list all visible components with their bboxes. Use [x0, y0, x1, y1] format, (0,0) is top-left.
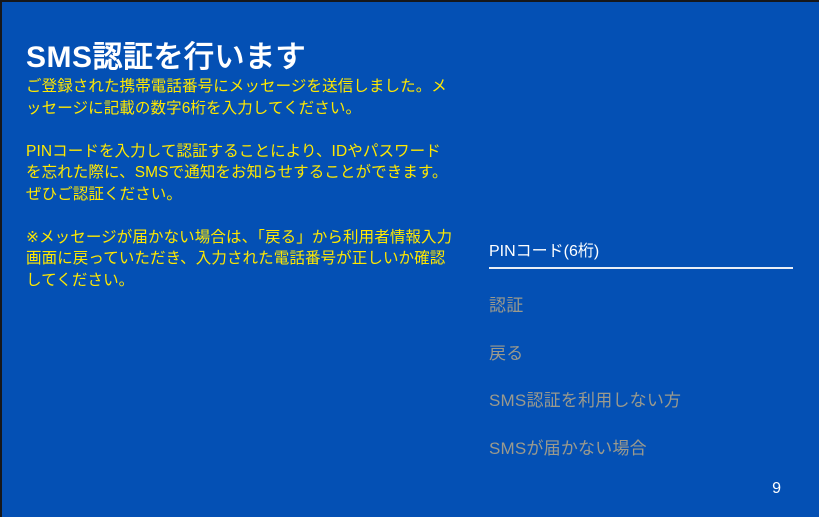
instruction-paragraph-1: ご登録された携帯電話番号にメッセージを送信しました。メッセージに記載の数字6桁を… — [26, 76, 456, 119]
menu-item-authenticate[interactable]: 認証 — [489, 295, 793, 343]
action-menu-list: 認証 戻る SMS認証を利用しない方 SMSが届かない場合 — [489, 295, 793, 485]
instruction-text-block: ご登録された携帯電話番号にメッセージを送信しました。メッセージに記載の数字6桁を… — [26, 76, 456, 291]
menu-item-back[interactable]: 戻る — [489, 343, 793, 391]
menu-item-do-not-use-sms-auth[interactable]: SMS認証を利用しない方 — [489, 390, 793, 438]
menu-item-sms-not-received[interactable]: SMSが届かない場合 — [489, 438, 793, 486]
sms-authentication-screen: SMS認証を行います ご登録された携帯電話番号にメッセージを送信しました。メッセ… — [0, 0, 819, 517]
instruction-paragraph-2: PINコードを入力して認証することにより、IDやパスワードを忘れた際に、SMSで… — [26, 141, 456, 206]
pin-code-input-placeholder: PINコード(6桁) — [489, 241, 793, 263]
form-column: PINコード(6桁) 認証 戻る SMS認証を利用しない方 SMSが届かない場合 — [489, 241, 793, 269]
instruction-paragraph-3: ※メッセージが届かない場合は、「戻る」から利用者情報入力画面に戻っていただき、入… — [26, 227, 456, 292]
pin-code-input[interactable]: PINコード(6桁) — [489, 241, 793, 269]
page-number: 9 — [772, 479, 781, 499]
page-title: SMS認証を行います — [26, 39, 306, 77]
